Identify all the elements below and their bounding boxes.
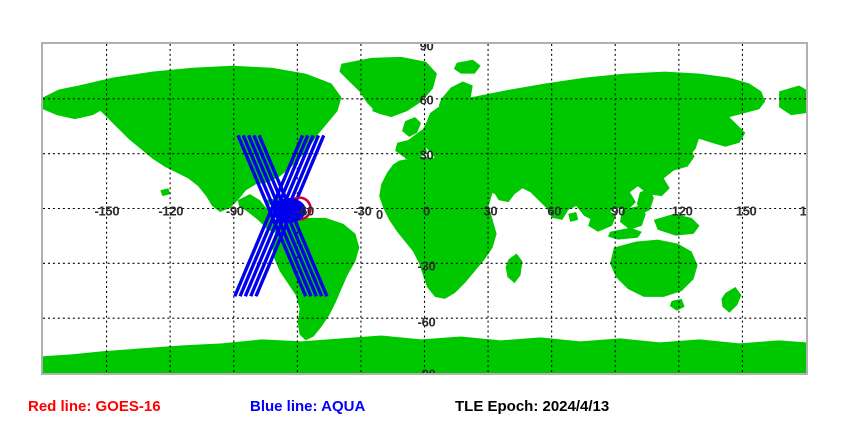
world-map-panel: 90 60 30 0 -30 -60 -90 -30 0 30 60 90 12… — [41, 42, 808, 375]
lon-tick-minus30: -30 — [354, 204, 372, 217]
lon-tick-minus150: -150 — [94, 204, 119, 217]
lat-tick-minus30: -30 — [418, 260, 436, 273]
satellite-ground-track-map: 90 60 30 0 -30 -60 -90 -30 0 30 60 90 12… — [0, 0, 850, 425]
lon-tick-60: 60 — [547, 204, 561, 217]
legend-red-line-goes16: Red line: GOES-16 — [28, 399, 161, 414]
lon-tick-90: 90 — [611, 204, 625, 217]
lon-tick-150: 150 — [736, 204, 757, 217]
lon-tick-minus120: -120 — [158, 204, 183, 217]
lat-tick-90: 90 — [420, 42, 434, 53]
lon-tick-120: 120 — [672, 204, 693, 217]
lon-tick-180: 180 — [800, 204, 808, 217]
legend-blue-line-aqua: Blue line: AQUA — [250, 399, 365, 414]
lon-tick-30: 30 — [483, 204, 497, 217]
lat-tick-60: 60 — [420, 93, 434, 106]
legend-footer: Red line: GOES-16 Blue line: AQUA TLE Ep… — [0, 392, 850, 425]
lat-tick-30: 30 — [420, 149, 434, 162]
lat-tick-0: 0 — [423, 204, 430, 217]
legend-tle-epoch: TLE Epoch: 2024/4/13 — [455, 399, 609, 414]
lon-tick-zero-visible: 0 — [376, 208, 383, 221]
lat-tick-minus90: -90 — [418, 368, 436, 376]
lon-tick-minus60: -60 — [296, 204, 314, 217]
lat-tick-minus60: -60 — [418, 315, 436, 328]
lon-tick-minus90: -90 — [226, 204, 244, 217]
